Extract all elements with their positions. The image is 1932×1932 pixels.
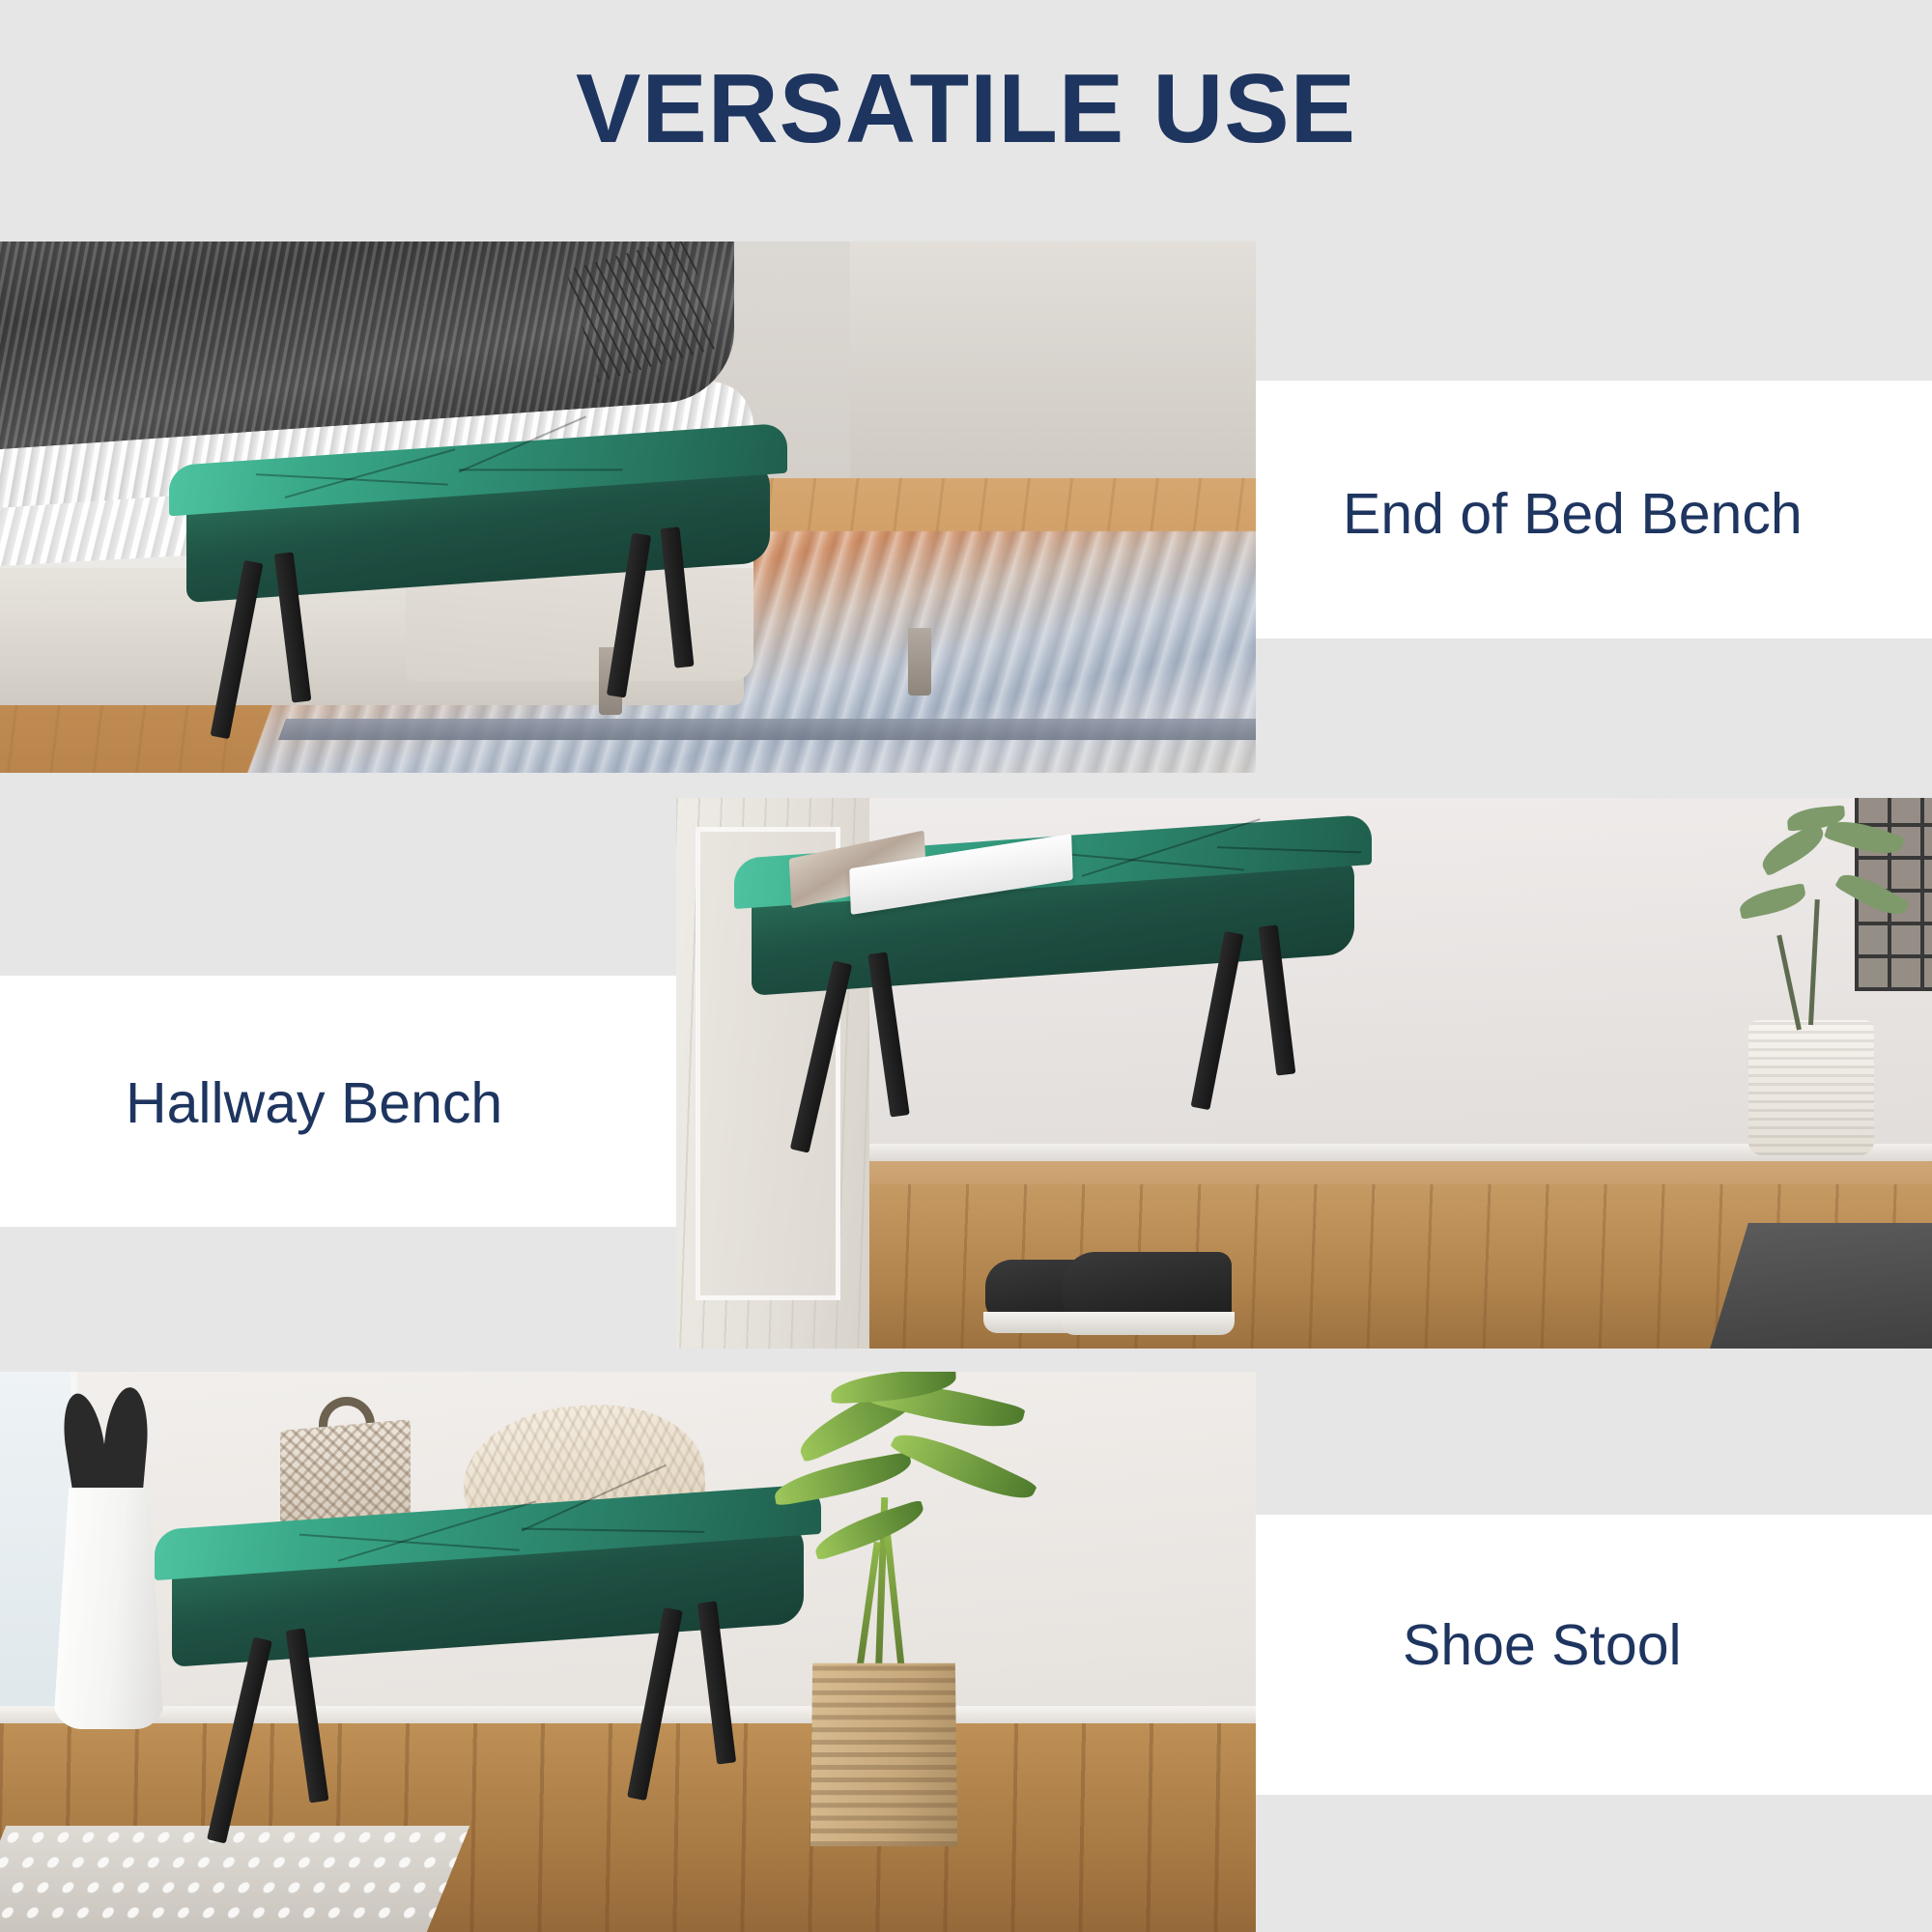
bench-seam: [1217, 846, 1361, 853]
woven-planter: [1748, 1020, 1874, 1155]
label-shoe-stool: Shoe Stool: [1403, 1612, 1682, 1678]
photo-entryway-scene: [0, 1372, 1256, 1932]
bench-seam: [459, 469, 623, 470]
entryway-baseboard: [0, 1706, 1256, 1723]
bedroom-rug-edge: [278, 719, 1256, 740]
bench-seam: [338, 1500, 536, 1561]
bench-seam: [285, 448, 455, 498]
slatted-wood-planter: [810, 1663, 957, 1847]
bench-seam: [522, 1528, 704, 1533]
label-end-of-bed-bench: End of Bed Bench: [1343, 481, 1803, 547]
bench-product: [155, 1507, 821, 1700]
bench-seam: [299, 1534, 520, 1551]
photo-hallway-scene: [676, 798, 1932, 1349]
bedroom-wall-right: [850, 241, 1256, 483]
sneaker-sole: [1061, 1312, 1235, 1335]
photo-bedroom-scene: [0, 241, 1256, 773]
umbrella-stand: [53, 1488, 164, 1729]
bed-leg: [908, 628, 931, 696]
entryway-rug: [0, 1826, 469, 1932]
bench-product: [169, 444, 787, 618]
label-hallway-bench: Hallway Bench: [126, 1070, 502, 1136]
hallway-dark-rug: [1710, 1223, 1932, 1349]
page-title: VERSATILE USE: [0, 58, 1932, 160]
infographic-page: VERSATILE USE: [0, 0, 1932, 1932]
